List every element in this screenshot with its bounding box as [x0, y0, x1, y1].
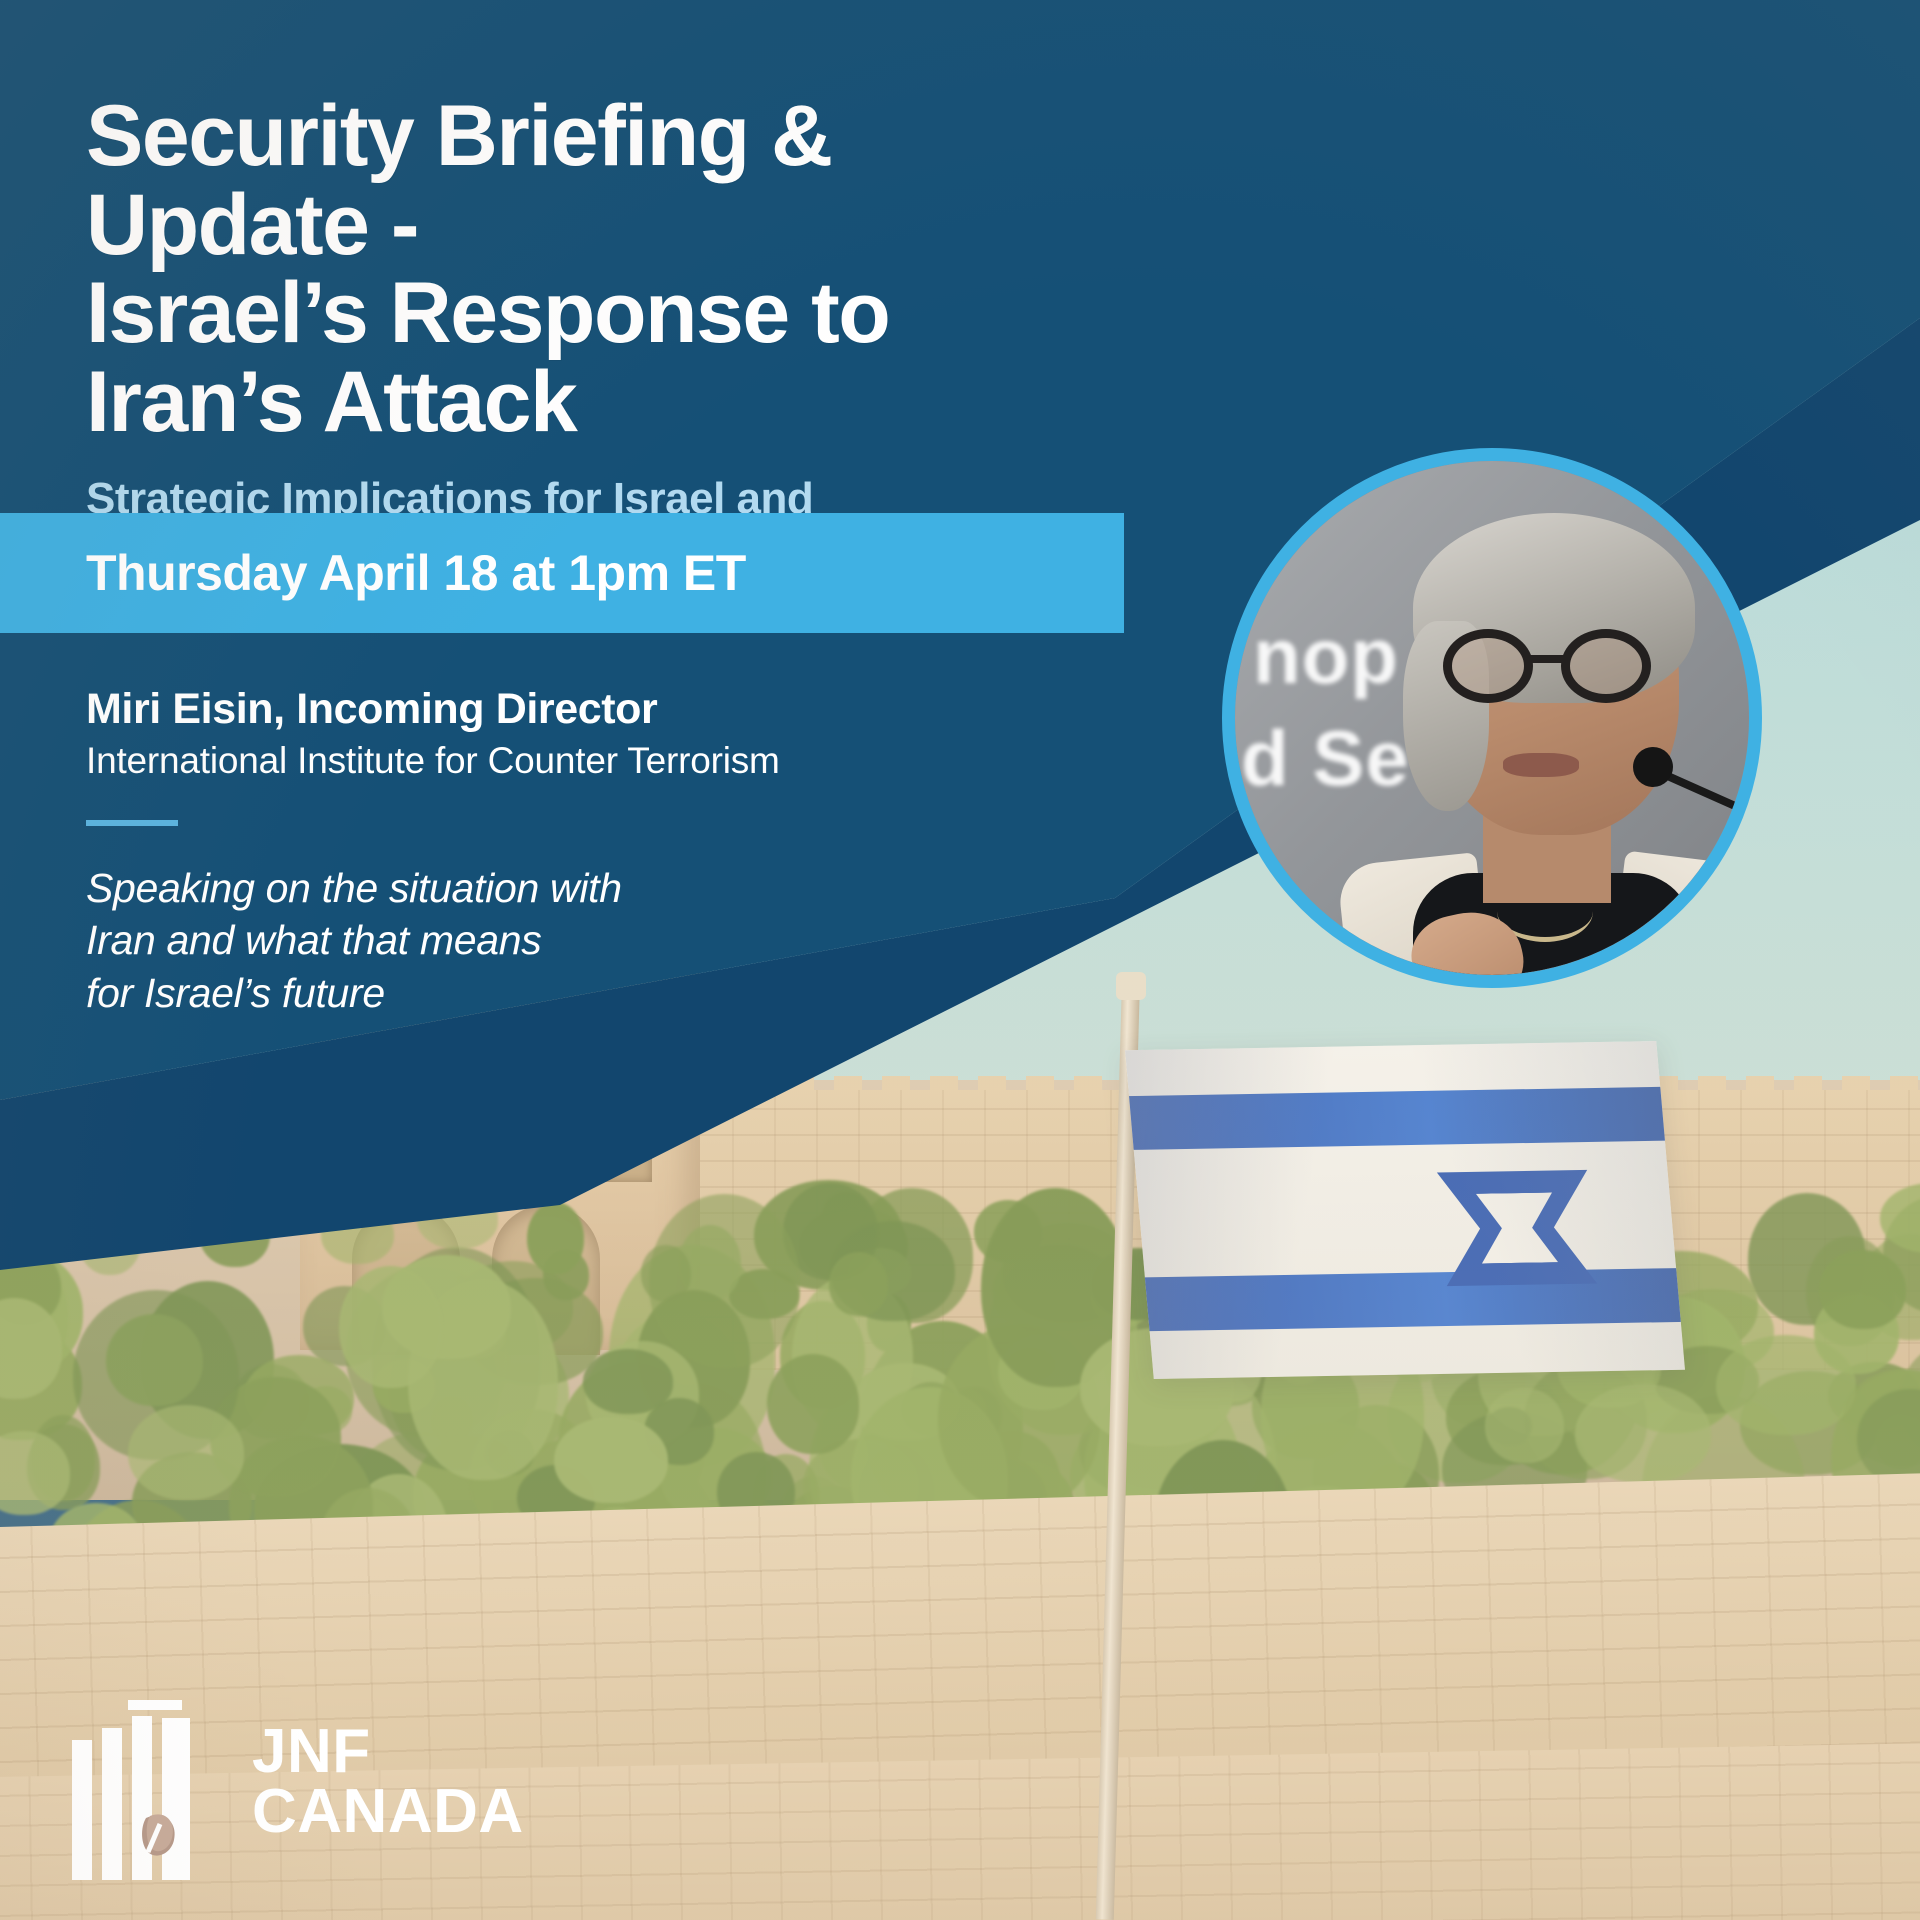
tree	[649, 1194, 800, 1368]
speaker-name: Miri Eisin, Incoming Director	[86, 685, 1046, 734]
glasses-icon	[1443, 629, 1675, 703]
mouth	[1503, 753, 1579, 777]
speaker-blurb: Speaking on the situation withIran and w…	[86, 862, 1046, 1019]
tree	[1575, 1384, 1711, 1483]
logo-line-jnf: JNF	[252, 1722, 524, 1782]
lens-right	[1561, 629, 1651, 703]
page-title: Security Briefing & Update -Israel’s Res…	[0, 0, 1100, 446]
tree	[1819, 1250, 1907, 1329]
title-line-1: Security Briefing & Update -	[86, 88, 832, 273]
logo-line-canada: CANADA	[252, 1782, 524, 1842]
portrait-image: nop d Se	[1235, 461, 1749, 975]
logo-wordmark: JNF CANADA	[252, 1722, 524, 1841]
flag-shading	[1125, 1041, 1685, 1379]
backdrop-text-line-2: d Se	[1241, 713, 1410, 804]
speaker-organization: International Institute for Counter Terr…	[86, 740, 1046, 782]
tree	[829, 1252, 888, 1316]
tree	[583, 1349, 673, 1413]
tree	[128, 1405, 244, 1500]
divider-rule	[86, 820, 178, 826]
tree	[554, 1417, 667, 1503]
title-line-2: Israel’s Response to Iran’s Attack	[86, 265, 889, 450]
flagpole-cap	[1116, 972, 1146, 1000]
speaker-portrait: nop d Se	[1222, 448, 1762, 988]
blurb-line-2: Iran and what that means	[86, 917, 541, 963]
jnf-canada-logo: JNF CANADA	[72, 1700, 492, 1880]
tree	[339, 1266, 442, 1388]
blurb-line-3: for Israel’s future	[86, 970, 385, 1016]
microphone-icon	[1633, 747, 1673, 787]
backdrop-text-line-1: nop	[1253, 611, 1399, 702]
jnf-logo-mark-icon	[72, 1700, 222, 1880]
tree	[1485, 1388, 1564, 1462]
date-banner: Thursday April 18 at 1pm ET	[0, 513, 1124, 633]
tree	[767, 1354, 859, 1454]
lens-left	[1443, 629, 1533, 703]
israeli-flag	[1125, 1041, 1685, 1379]
text-content: Security Briefing & Update -Israel’s Res…	[0, 0, 1100, 580]
promo-poster: Security Briefing & Update -Israel’s Res…	[0, 0, 1920, 1920]
blurb-line-1: Speaking on the situation with	[86, 865, 622, 911]
speaker-block: Miri Eisin, Incoming Director Internatio…	[86, 685, 1046, 1019]
tree	[527, 1202, 584, 1274]
glasses-bridge	[1531, 655, 1565, 663]
event-datetime: Thursday April 18 at 1pm ET	[0, 544, 746, 602]
